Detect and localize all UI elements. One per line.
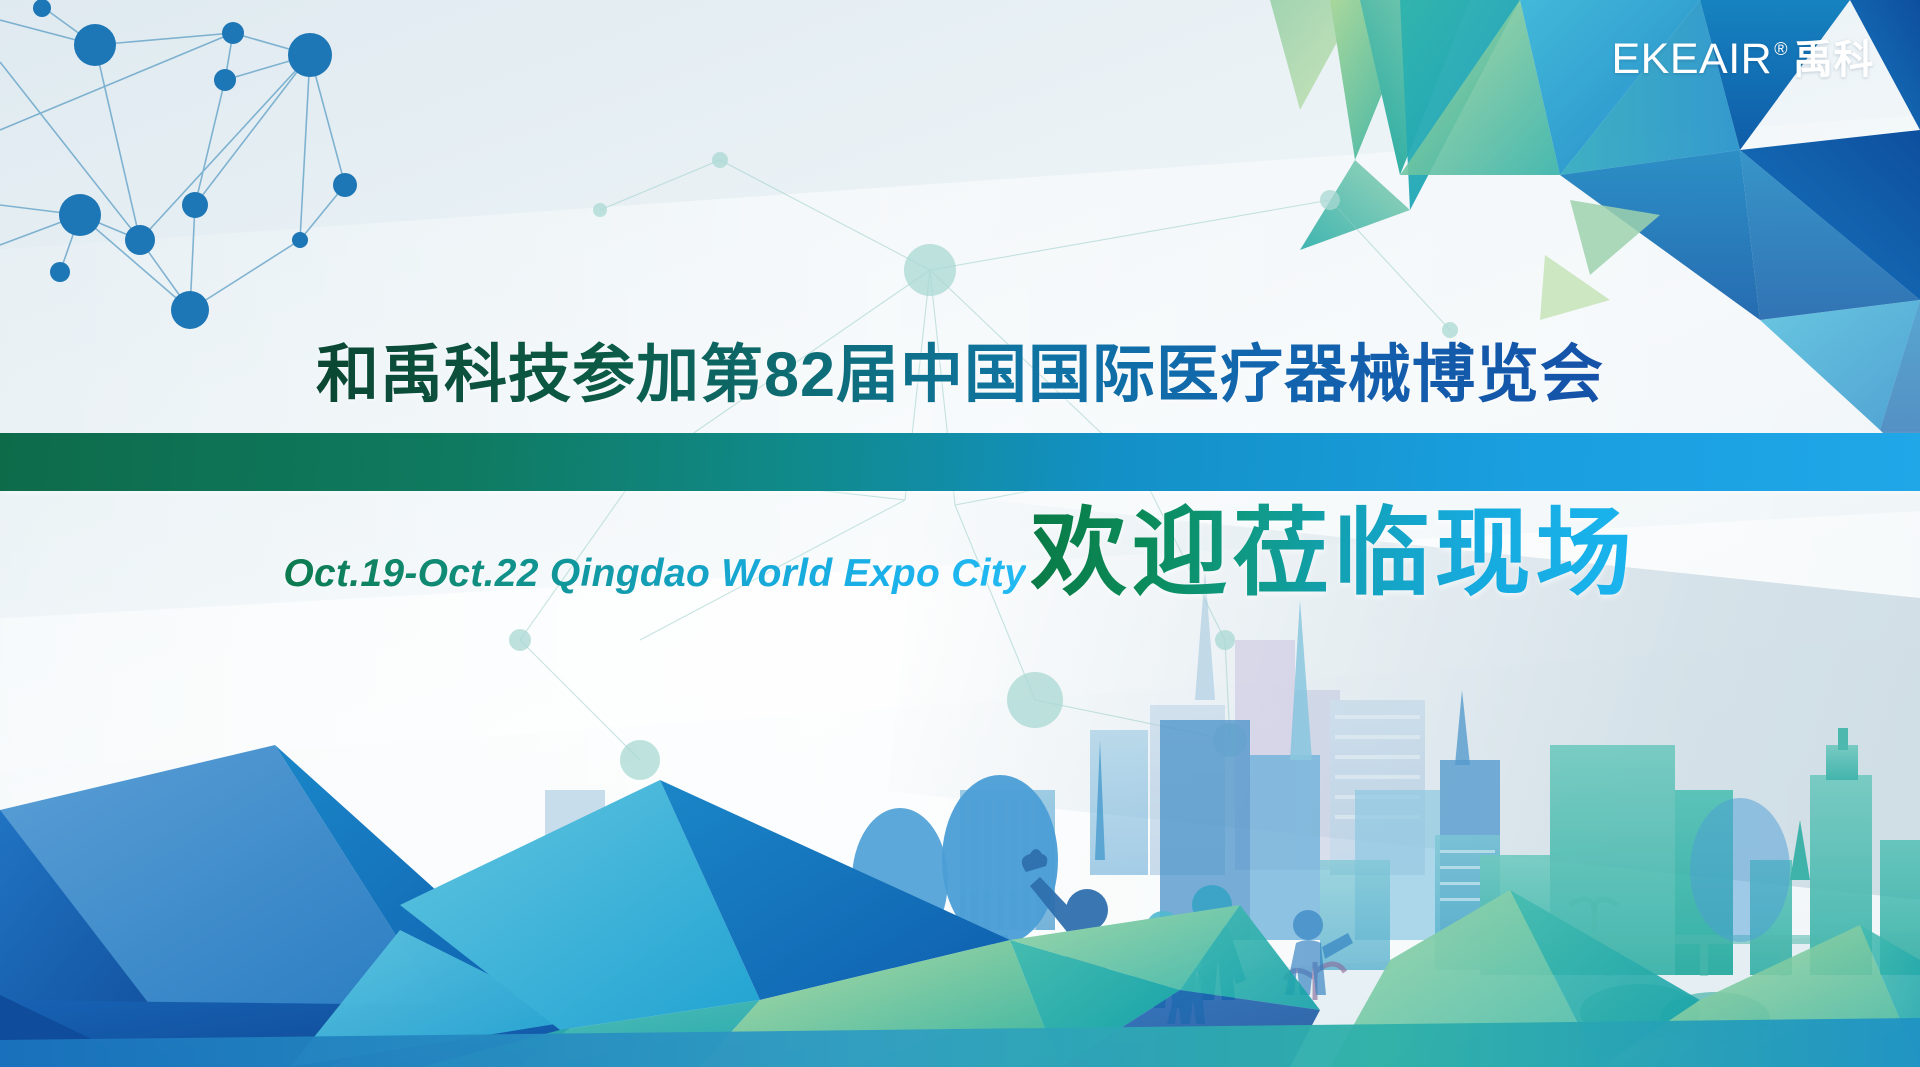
brand-logo: EKEAIR ® 禹科	[1612, 38, 1875, 81]
ground-strip	[0, 1018, 1920, 1067]
welcome-headline: 欢迎莅临现场	[1031, 501, 1637, 607]
low-poly-mountains-center	[290, 780, 1320, 1067]
event-venue-cn: 中铁·青岛世界博览城	[1036, 433, 1414, 491]
promo-banner: EKEAIR ® 禹科 和禹科技参加第82届中国国际医疗器械博览会 2019年1…	[0, 0, 1920, 1067]
logo-latin-text: EKEAIR	[1612, 38, 1773, 81]
skyline-back	[545, 570, 1425, 910]
logo-chinese-text: 禹科	[1793, 40, 1874, 80]
crowd-silhouettes	[1022, 849, 1353, 1024]
event-date-venue-en: Oct.19-Oct.22 Qingdao World Expo City	[283, 552, 1026, 596]
skyline-mid-blue	[960, 600, 1500, 940]
skyline-right-teal	[1320, 728, 1920, 976]
event-title: 和禹科技参加第82届中国国际医疗器械博览会	[316, 340, 1604, 411]
headline-text-block: 和禹科技参加第82届中国国际医疗器械博览会 2019年10月19日-10月22日…	[0, 340, 1920, 606]
low-poly-mountains-right	[1330, 890, 1920, 1067]
event-date-venue-line: 2019年10月19日-10月22日中铁·青岛世界博览城	[0, 433, 1920, 491]
tree-silhouettes	[812, 775, 1790, 1044]
event-date-cn: 2019年10月19日-10月22日	[505, 433, 994, 491]
low-poly-mountains-left	[0, 745, 580, 1067]
registered-trademark-icon: ®	[1774, 40, 1788, 58]
